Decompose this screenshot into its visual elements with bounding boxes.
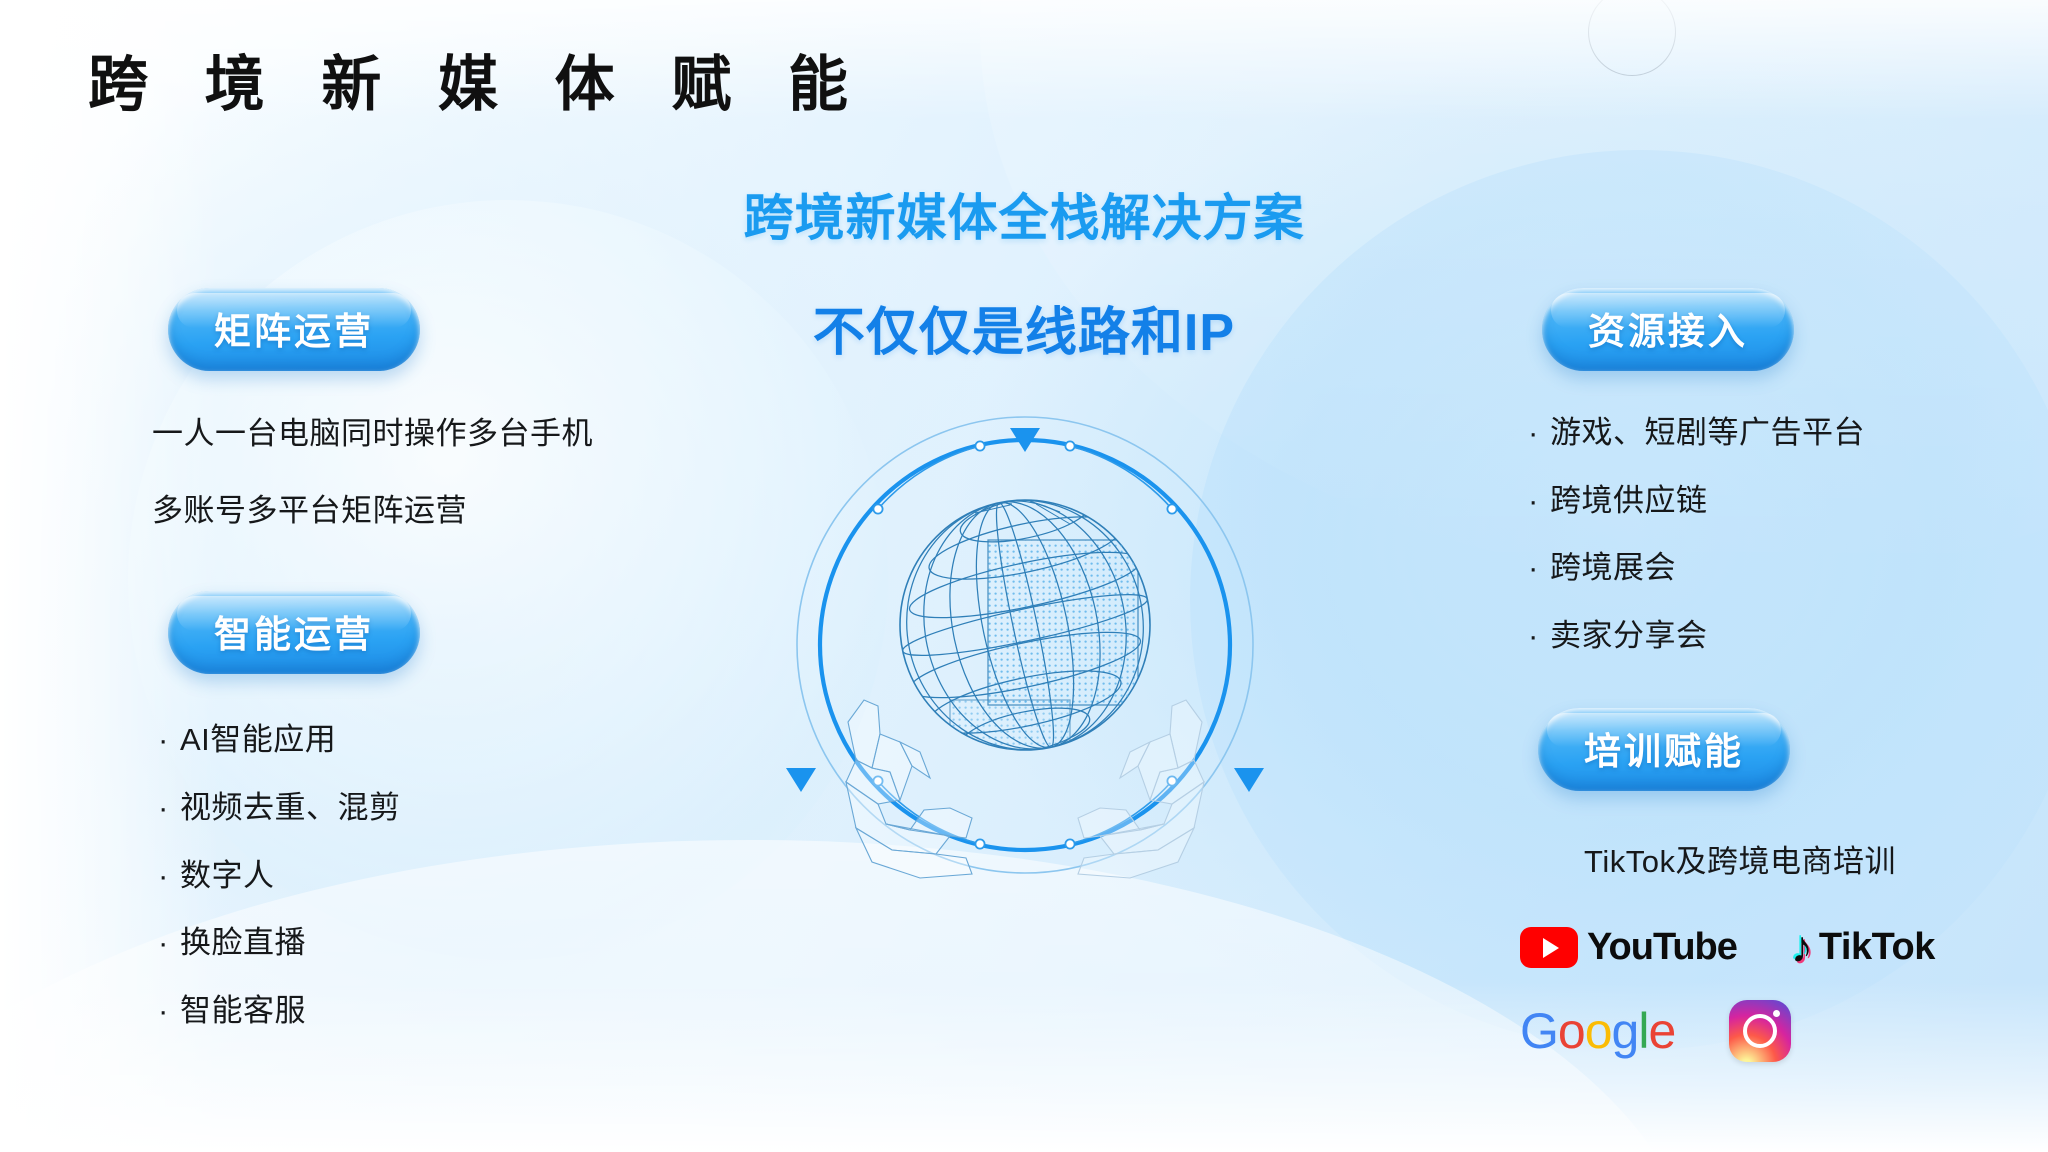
platform-logo-grid: YouTube ♪ TikTok Google bbox=[1520, 926, 1970, 1062]
list-item-label: AI智能应用 bbox=[180, 722, 336, 757]
bullet-dot-icon: · bbox=[1528, 550, 1550, 586]
list-item-label: 换脸直播 bbox=[180, 925, 306, 960]
bullet-dot-icon: · bbox=[1528, 415, 1550, 451]
badge-training-empowerment[interactable]: 培训赋能 bbox=[1538, 708, 1790, 791]
badge-resource-access[interactable]: 资源接入 bbox=[1542, 288, 1794, 371]
instagram-logo[interactable] bbox=[1729, 1000, 1791, 1062]
tiktok-wordmark: TikTok bbox=[1819, 926, 1935, 969]
bullet-dot-icon: · bbox=[158, 722, 180, 758]
bullet-dot-icon: · bbox=[158, 925, 180, 961]
bullet-dot-icon: · bbox=[1528, 618, 1550, 654]
left-bullet-list: ·AI智能应用 ·视频去重、混剪 ·数字人 ·换脸直播 ·智能客服 bbox=[158, 722, 790, 1028]
list-item-label: 跨境展会 bbox=[1550, 550, 1676, 585]
list-item-label: 智能客服 bbox=[180, 993, 306, 1028]
bullet-dot-icon: · bbox=[158, 993, 180, 1029]
right-bullet-list: ·游戏、短剧等广告平台 ·跨境供应链 ·跨境展会 ·卖家分享会 bbox=[1528, 415, 2040, 654]
left-column: 矩阵运营 一人一台电脑同时操作多台手机 多账号多平台矩阵运营 智能运营 ·AI智… bbox=[150, 288, 790, 1061]
right-column: 资源接入 ·游戏、短剧等广告平台 ·跨境供应链 ·跨境展会 ·卖家分享会 培训赋… bbox=[1520, 288, 2040, 1092]
google-letter: G bbox=[1520, 1002, 1558, 1060]
google-letter: l bbox=[1638, 1002, 1648, 1060]
youtube-wordmark: YouTube bbox=[1587, 926, 1737, 969]
list-item: ·游戏、短剧等广告平台 bbox=[1528, 415, 2040, 451]
list-item: ·数字人 bbox=[158, 858, 790, 894]
list-item-label: 视频去重、混剪 bbox=[180, 790, 401, 825]
headline: 跨境新媒体全栈解决方案 bbox=[0, 178, 2048, 250]
list-item: ·卖家分享会 bbox=[1528, 618, 2040, 654]
page-title: 跨 境 新 媒 体 赋 能 bbox=[88, 36, 868, 123]
list-item: ·跨境展会 bbox=[1528, 550, 2040, 586]
logo-row-2: Google bbox=[1520, 1000, 1970, 1062]
google-logo[interactable]: Google bbox=[1520, 1002, 1675, 1060]
left-text-line-1: 一人一台电脑同时操作多台手机 bbox=[152, 415, 790, 452]
left-text-line-2: 多账号多平台矩阵运营 bbox=[152, 492, 790, 529]
bullet-dot-icon: · bbox=[158, 858, 180, 894]
right-text-line-1: TikTok及跨境电商培训 bbox=[1520, 843, 1960, 880]
logo-row-1: YouTube ♪ TikTok bbox=[1520, 926, 1970, 970]
google-letter: g bbox=[1612, 1002, 1639, 1060]
list-item-label: 游戏、短剧等广告平台 bbox=[1550, 415, 1865, 450]
google-letter: e bbox=[1648, 1002, 1675, 1060]
badge-matrix-operations[interactable]: 矩阵运营 bbox=[168, 288, 420, 371]
list-item: ·视频去重、混剪 bbox=[158, 790, 790, 826]
instagram-dot-icon bbox=[1773, 1010, 1780, 1017]
google-letter: o bbox=[1585, 1002, 1612, 1060]
list-item-label: 跨境供应链 bbox=[1550, 483, 1708, 518]
list-item: ·换脸直播 bbox=[158, 925, 790, 961]
list-item-label: 卖家分享会 bbox=[1550, 618, 1708, 653]
list-item: ·智能客服 bbox=[158, 993, 790, 1029]
youtube-logo[interactable]: YouTube bbox=[1520, 926, 1737, 969]
bullet-dot-icon: · bbox=[158, 790, 180, 826]
bullet-dot-icon: · bbox=[1528, 483, 1550, 519]
slide-canvas: 跨 境 新 媒 体 赋 能 跨境新媒体全栈解决方案 不仅仅是线路和IP bbox=[0, 0, 2048, 1152]
list-item: ·跨境供应链 bbox=[1528, 483, 2040, 519]
tiktok-note-icon: ♪ bbox=[1791, 926, 1813, 970]
list-item-label: 数字人 bbox=[180, 858, 275, 893]
globe-in-hands-illustration bbox=[760, 400, 1290, 890]
tiktok-logo[interactable]: ♪ TikTok bbox=[1791, 926, 1935, 970]
badge-smart-operations[interactable]: 智能运营 bbox=[168, 591, 420, 674]
google-letter: o bbox=[1558, 1002, 1585, 1060]
list-item: ·AI智能应用 bbox=[158, 722, 790, 758]
youtube-play-icon bbox=[1520, 927, 1578, 968]
